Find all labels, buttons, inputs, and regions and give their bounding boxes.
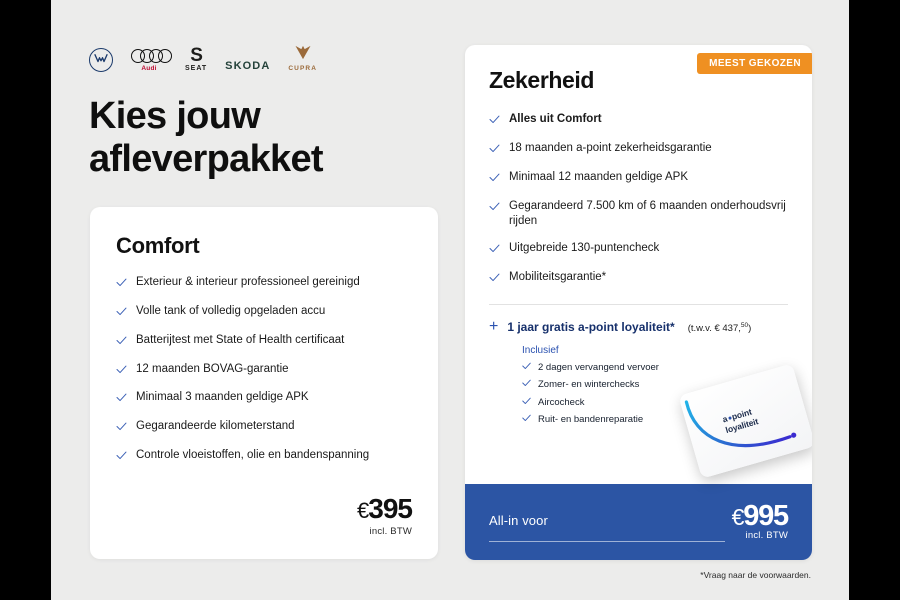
footer-top-row: All-in voor €995 — [489, 502, 788, 531]
allin-label: All-in voor — [489, 513, 548, 528]
list-item-label: Volle tank of volledig opgeladen accu — [136, 304, 325, 320]
inclusief-label: Inclusief — [522, 345, 788, 356]
footer-rule — [489, 541, 725, 542]
zekerheid-price-footer: All-in voor €995 incl. BTW — [465, 484, 812, 560]
list-item: Mobiliteitsgarantie* — [489, 270, 788, 288]
check-icon — [116, 450, 127, 466]
page-title: Kies jouw afleverpakket — [89, 95, 323, 180]
check-icon — [116, 392, 127, 408]
check-icon — [489, 272, 500, 288]
promo-canvas: Audi S SEAT SKODA CUPRA Kies jouw — [51, 0, 849, 600]
bonus-row: + 1 jaar gratis a-point loyaliteit* (t.w… — [489, 319, 788, 335]
list-item-label: Alles uit Comfort — [509, 112, 602, 128]
list-item-label: Exterieur & interieur professioneel gere… — [136, 275, 360, 291]
status-badge: MEEST GEKOZEN — [697, 53, 812, 74]
check-icon — [116, 364, 127, 380]
cupra-logo: CUPRA — [288, 44, 317, 72]
list-item: Gegarandeerd 7.500 km of 6 maanden onder… — [489, 199, 788, 231]
bonus-worth-prefix: (t.w.v. € 437, — [688, 323, 741, 334]
list-item-label: Batterijtest met State of Health certifi… — [136, 333, 344, 349]
check-icon — [489, 172, 500, 188]
list-item-label: Minimaal 3 maanden geldige APK — [136, 390, 309, 406]
list-item: Exterieur & interieur professioneel gere… — [116, 275, 412, 293]
list-item: Minimaal 3 maanden geldige APK — [116, 390, 412, 408]
comfort-feature-list: Exterieur & interieur professioneel gere… — [116, 275, 412, 466]
brand-logo-strip: Audi S SEAT SKODA CUPRA — [89, 40, 317, 72]
bonus-worth-suffix: ) — [748, 323, 751, 334]
check-icon — [489, 201, 500, 217]
comfort-price-block: €395 incl. BTW — [357, 495, 412, 537]
check-icon — [116, 277, 127, 293]
skoda-wordmark: SKODA — [225, 60, 270, 72]
list-item-label: Controle vloeistoffen, olie en bandenspa… — [136, 448, 369, 464]
list-item-label: Minimaal 12 maanden geldige APK — [509, 170, 688, 186]
price-amount: 995 — [743, 500, 788, 532]
comfort-price: €395 — [357, 495, 412, 523]
list-item-label: Gegarandeerde kilometerstand — [136, 419, 295, 435]
list-item: Volle tank of volledig opgeladen accu — [116, 304, 412, 322]
currency-symbol: € — [732, 504, 744, 530]
package-card-comfort[interactable]: Comfort Exterieur & interieur profession… — [90, 207, 438, 559]
list-item-label: 12 maanden BOVAG-garantie — [136, 362, 289, 378]
list-item: 2 dagen vervangend vervoer — [522, 362, 788, 374]
package-card-zekerheid[interactable]: MEEST GEKOZEN Zekerheid Alles uit Comfor… — [465, 45, 812, 560]
audi-rings-icon — [131, 49, 167, 63]
list-item-label: 2 dagen vervangend vervoer — [538, 362, 659, 374]
bonus-worth: (t.w.v. € 437,50) — [688, 322, 752, 334]
check-icon — [522, 362, 531, 374]
check-icon — [116, 306, 127, 322]
zekerheid-feature-list: Alles uit Comfort 18 maanden a-point zek… — [489, 112, 788, 288]
letterbox-bar-left — [0, 0, 51, 600]
plus-icon: + — [489, 319, 498, 335]
bonus-label: 1 jaar gratis a-point loyaliteit* — [507, 320, 674, 334]
list-item: Alles uit Comfort — [489, 112, 788, 130]
volkswagen-icon — [89, 48, 113, 72]
check-icon — [522, 414, 531, 426]
list-item: Batterijtest met State of Health certifi… — [116, 333, 412, 351]
check-icon — [489, 243, 500, 259]
list-item-label: Zomer- en winterchecks — [538, 379, 639, 391]
list-item-label: Mobiliteitsgarantie* — [509, 270, 606, 286]
page-title-line-2: afleverpakket — [89, 138, 323, 181]
check-icon — [522, 397, 531, 409]
check-icon — [489, 114, 500, 130]
price-amount: 395 — [368, 493, 412, 524]
check-icon — [116, 335, 127, 351]
page-title-line-1: Kies jouw — [89, 95, 323, 138]
list-item-label: Uitgebreide 130-puntencheck — [509, 241, 659, 257]
list-item: 12 maanden BOVAG-garantie — [116, 362, 412, 380]
section-divider — [489, 304, 788, 305]
seat-wordmark: SEAT — [185, 65, 207, 72]
skoda-logo: SKODA — [225, 60, 270, 72]
disclaimer-text: *Vraag naar de voorwaarden. — [700, 570, 811, 580]
volkswagen-logo — [89, 48, 113, 72]
list-item-label: 18 maanden a-point zekerheidsgarantie — [509, 141, 712, 157]
cupra-wordmark: CUPRA — [288, 65, 317, 72]
currency-symbol: € — [357, 498, 368, 523]
zekerheid-price: €995 — [732, 502, 788, 531]
list-item-label: Gegarandeerd 7.500 km of 6 maanden onder… — [509, 199, 788, 231]
seat-icon: S — [190, 47, 202, 64]
cupra-icon — [293, 44, 313, 63]
comfort-title: Comfort — [116, 233, 412, 259]
zekerheid-price-note: incl. BTW — [746, 530, 788, 541]
zekerheid-body: Zekerheid Alles uit Comfort 18 maanden a… — [465, 45, 812, 426]
list-item: Uitgebreide 130-puntencheck — [489, 241, 788, 259]
check-icon — [522, 379, 531, 391]
screenshot-stage: Audi S SEAT SKODA CUPRA Kies jouw — [0, 0, 900, 600]
list-item-label: Ruit- en bandenreparatie — [538, 414, 643, 426]
comfort-price-note: incl. BTW — [357, 526, 412, 537]
check-icon — [489, 143, 500, 159]
seat-logo: S SEAT — [185, 47, 207, 72]
list-item-label: Aircocheck — [538, 397, 584, 409]
audi-logo: Audi — [131, 49, 167, 72]
list-item: Gegarandeerde kilometerstand — [116, 419, 412, 437]
letterbox-bar-right — [849, 0, 900, 600]
list-item: Controle vloeistoffen, olie en bandenspa… — [116, 448, 412, 466]
list-item: 18 maanden a-point zekerheidsgarantie — [489, 141, 788, 159]
audi-wordmark: Audi — [141, 65, 156, 72]
check-icon — [116, 421, 127, 437]
list-item: Minimaal 12 maanden geldige APK — [489, 170, 788, 188]
